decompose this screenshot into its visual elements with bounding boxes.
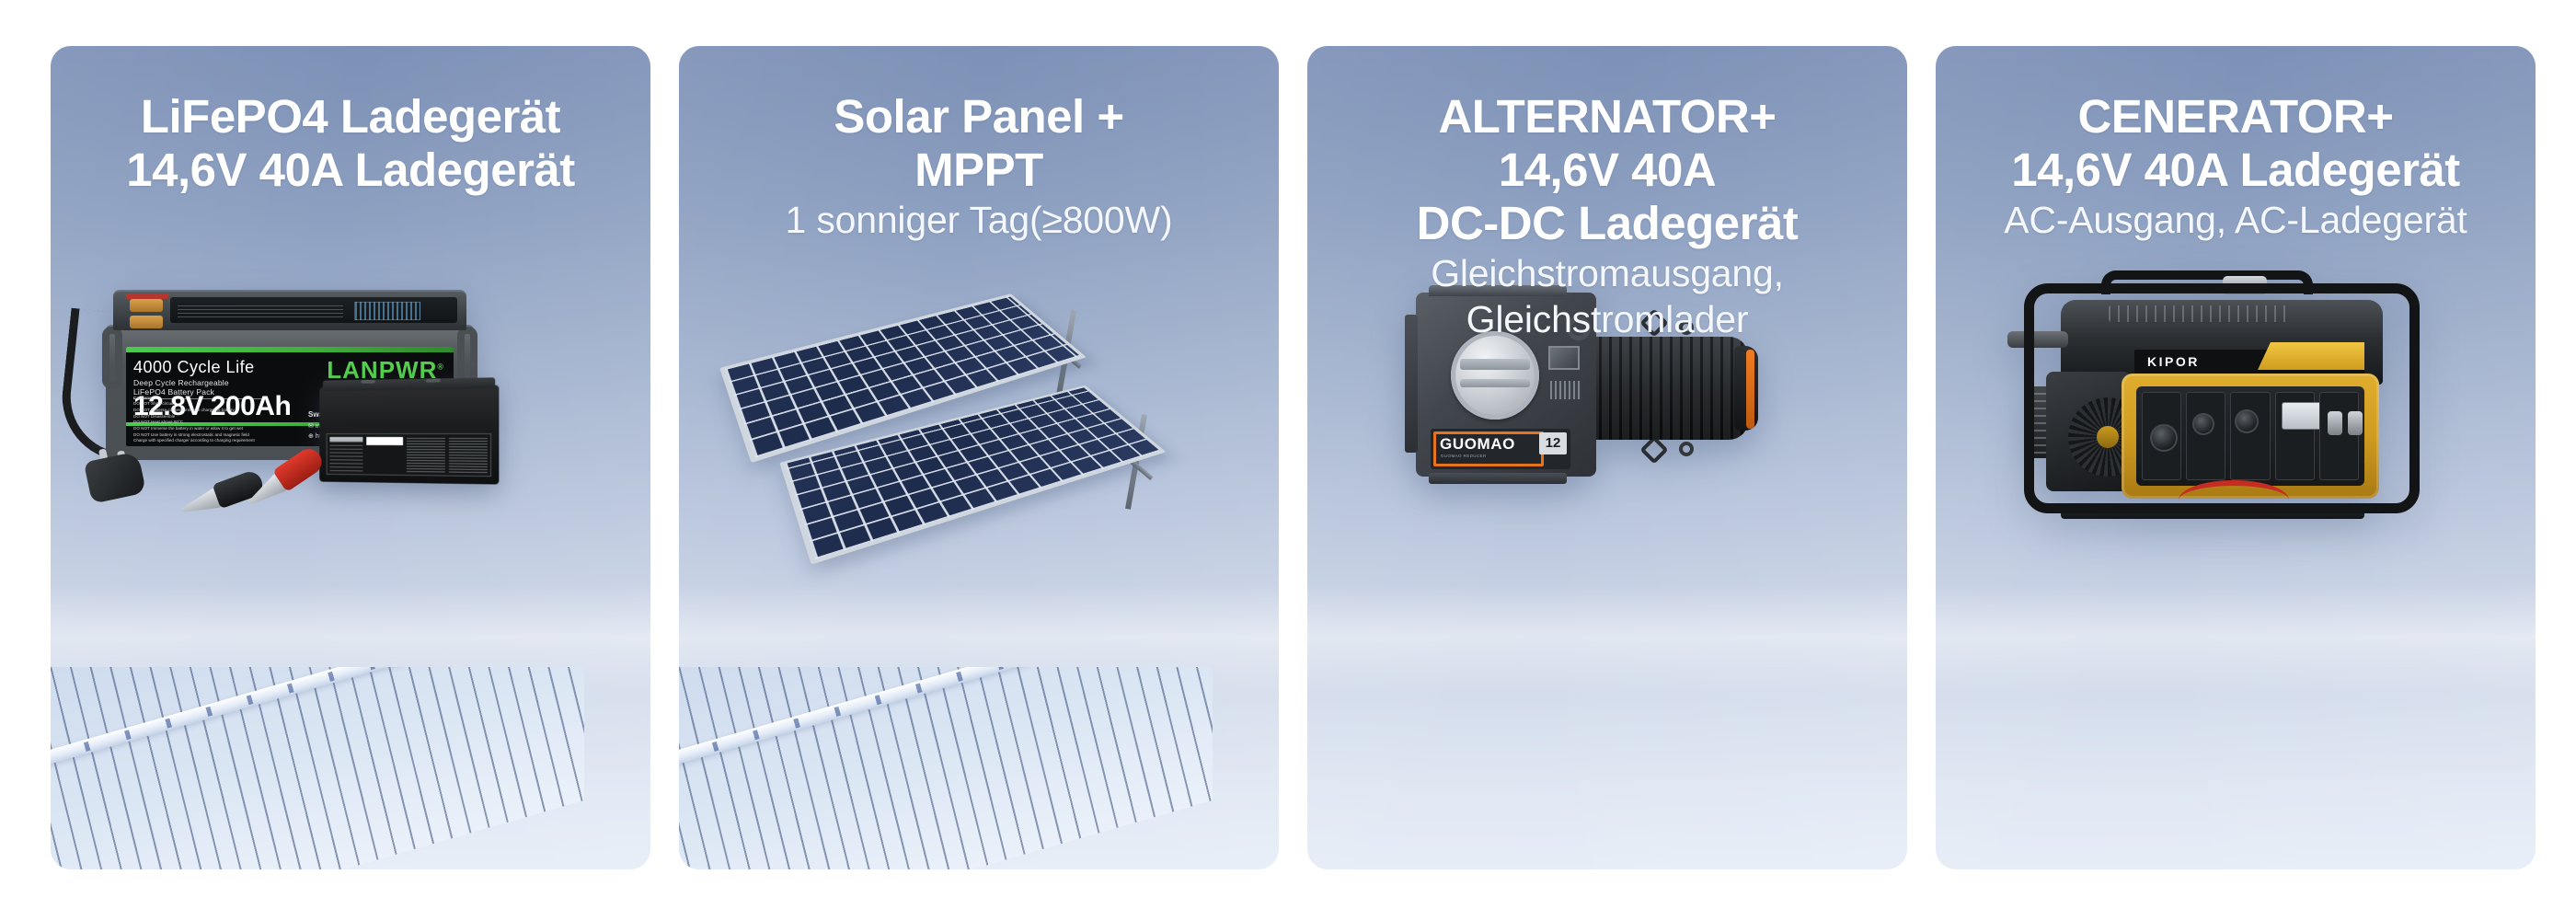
charger-label-col-caution bbox=[449, 437, 488, 473]
card-text-solar: Solar Panel + MPPT 1 sonniger Tag(≥800W) bbox=[679, 46, 1279, 243]
caution-3: DO NOT Disassemble bbox=[133, 414, 175, 419]
caution-6: DO NOT Use battery in strong electrostat… bbox=[133, 432, 249, 437]
solar-panel-array-image bbox=[721, 276, 1236, 543]
cap-slot-1 bbox=[1460, 359, 1530, 370]
card3-heading-line-3: DC-DC Ladegerät bbox=[1329, 197, 1885, 250]
caution-title: Cautions: bbox=[133, 396, 153, 400]
card3-sub-line-2: Gleichstromlader bbox=[1329, 296, 1885, 342]
roof-plane bbox=[51, 667, 584, 869]
gearbox-brand: GUOMAO bbox=[1440, 435, 1515, 454]
gearbox-logo-plate bbox=[1548, 346, 1580, 370]
gearbox-foot bbox=[1429, 473, 1567, 484]
battery-cycle-life: 4000 Cycle Life bbox=[133, 358, 255, 377]
charging-options-banner: 4000 Cycle Life Deep Cycle Rechargeable … bbox=[0, 0, 2576, 920]
gearbox-nameplate: GUOMAO GUOMAO REDUCER 12 bbox=[1431, 429, 1570, 469]
caution-5: DO NOT Immerse the battery in water or a… bbox=[133, 426, 243, 431]
gearbox-barcode-chip bbox=[1550, 381, 1581, 399]
card-text-alternator: ALTERNATOR+ 14,6V 40A DC-DC Ladegerät Gl… bbox=[1307, 46, 1907, 342]
caution-4: DO NOT Heat above 60°C bbox=[133, 420, 183, 424]
battery-caution-block: Cautions: DO NOT Short circuit DO NOT Re… bbox=[133, 396, 304, 444]
card3-heading-line-2: 14,6V 40A bbox=[1329, 144, 1885, 197]
caution-1: DO NOT Short circuit bbox=[133, 401, 173, 406]
card-generator-ac[interactable]: KIPOR CENERATOR+ 14,6V 40A La bbox=[1936, 46, 2536, 869]
motor-orange-stripe bbox=[1746, 350, 1754, 429]
card-text-lifepo4: LiFePO4 Ladegerät 14,6V 40A Ladegerät bbox=[51, 46, 650, 197]
gearbox-badge-number: 12 bbox=[1539, 432, 1567, 454]
gearbox-brand-sub: GUOMAO REDUCER bbox=[1441, 454, 1487, 458]
card2-sub-line-1: 1 sonniger Tag(≥800W) bbox=[701, 197, 1257, 243]
caution-7: Charge with specified charger according … bbox=[133, 438, 255, 443]
battery-terminal-positive bbox=[130, 316, 163, 328]
label-green-bar-top bbox=[126, 347, 454, 352]
gearbox-inspection-cap bbox=[1451, 331, 1539, 420]
eu-power-plug bbox=[87, 443, 155, 499]
charger-label-col-output bbox=[407, 437, 444, 472]
charger-lid bbox=[323, 377, 495, 391]
card-lifepo4-charger[interactable]: 4000 Cycle Life Deep Cycle Rechargeable … bbox=[51, 46, 650, 869]
charger-spec-label bbox=[327, 433, 491, 477]
charger-label-col-model bbox=[366, 437, 403, 472]
motor-rotor-housing bbox=[1589, 337, 1749, 440]
card-alternator-dc-dc[interactable]: GUOMAO GUOMAO REDUCER 12 ALTERNATOR+ 14,… bbox=[1307, 46, 1907, 869]
card4-heading-line-2: 14,6V 40A Ladegerät bbox=[1958, 144, 2513, 197]
battery-handle-left bbox=[102, 327, 122, 389]
portable-generator-image: KIPOR bbox=[2024, 283, 2420, 513]
card-solar-panel-mppt[interactable]: Solar Panel + MPPT 1 sonniger Tag(≥800W) bbox=[679, 46, 1279, 869]
card2-heading-line-2: MPPT bbox=[701, 144, 1257, 197]
card3-sub-line-1: Gleichstromausgang, bbox=[1329, 250, 1885, 296]
card-text-generator: CENERATOR+ 14,6V 40A Ladegerät AC-Ausgan… bbox=[1936, 46, 2536, 243]
card1-heading-line-2: 14,6V 40A Ladegerät bbox=[73, 144, 628, 197]
battery-terminal-negative bbox=[130, 299, 163, 312]
roof-plane bbox=[679, 667, 1213, 869]
card3-heading-line-1: ALTERNATOR+ bbox=[1329, 90, 1885, 144]
motor-ring-bottom bbox=[1679, 442, 1694, 456]
card4-heading-line-1: CENERATOR+ bbox=[1958, 90, 2513, 144]
card4-sub-line-1: AC-Ausgang, AC-Ladegerät bbox=[1958, 197, 2513, 243]
caution-2: DO NOT Reverse connections from charger … bbox=[133, 408, 235, 412]
charger-label-col-title bbox=[329, 437, 362, 471]
battery-top-label-strip bbox=[170, 297, 457, 323]
solar-roof-graphic bbox=[679, 667, 1213, 869]
card1-heading-line-1: LiFePO4 Ladegerät bbox=[73, 90, 628, 144]
brand-registered-mark: ® bbox=[437, 362, 444, 371]
generator-roll-frame bbox=[2024, 283, 2420, 513]
battery-charger-image bbox=[319, 385, 499, 484]
cap-slot-2 bbox=[1460, 379, 1530, 387]
solar-roof-graphic bbox=[51, 667, 584, 869]
card2-heading-line-1: Solar Panel + bbox=[701, 90, 1257, 144]
charger-vent-1 bbox=[362, 380, 375, 384]
battery-top-cover bbox=[113, 290, 466, 330]
motor-lug-bottom bbox=[1639, 435, 1668, 464]
charger-vent-2 bbox=[426, 378, 441, 382]
plug-body bbox=[84, 451, 146, 503]
